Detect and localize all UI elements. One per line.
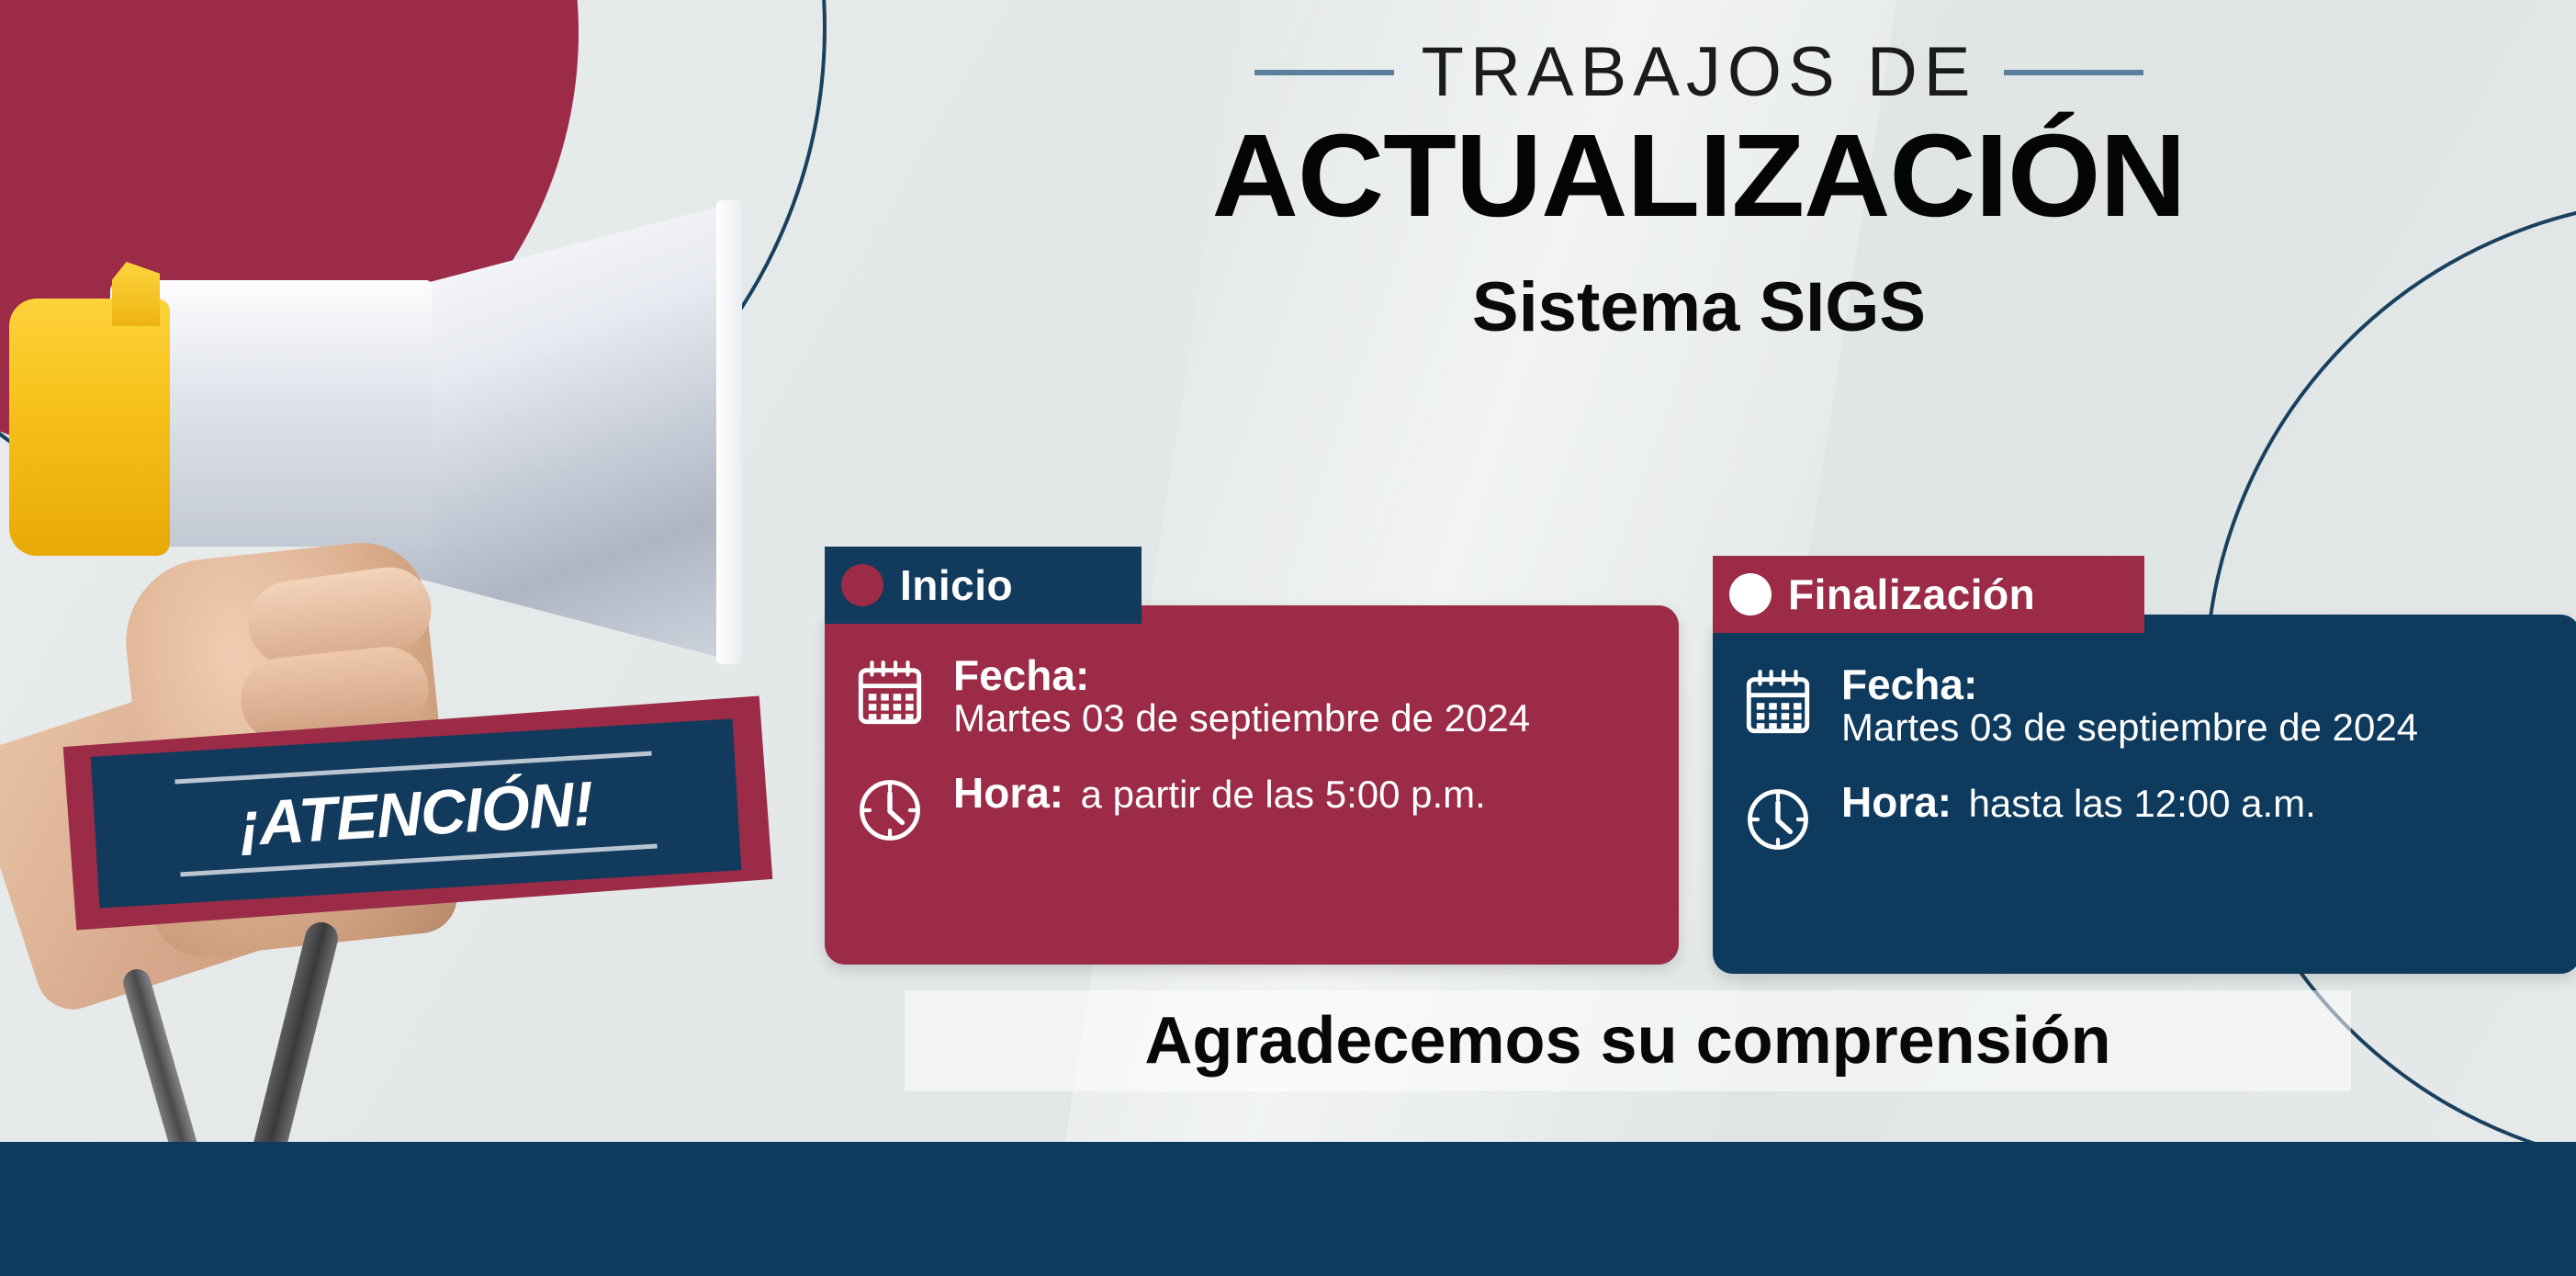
inicio-card: Inicio — [825, 547, 1679, 965]
finalizacion-time-value: hasta las 12:00 a.m. — [1956, 782, 2316, 825]
megaphone-yellow-tab — [112, 262, 160, 326]
finalizacion-time-label: Hora: — [1841, 778, 1952, 826]
finalizacion-card-tab-label: Finalización — [1788, 570, 2035, 619]
eyebrow-rule-right — [2004, 70, 2143, 75]
crimson-dot-icon — [841, 564, 883, 606]
clock-icon — [854, 771, 931, 851]
finalizacion-card-body: Fecha: Martes 03 de septiembre de 2024 H — [1713, 615, 2576, 974]
finalizacion-date-value: Martes 03 de septiembre de 2024 — [1841, 706, 2418, 749]
page-title: ACTUALIZACIÓN — [1212, 108, 2186, 243]
inicio-card-tab-label: Inicio — [900, 560, 1013, 610]
megaphone-yellow-cap — [9, 299, 170, 556]
finalizacion-date-label: Fecha: — [1841, 661, 1977, 708]
attention-badge: ¡ATENCIÓN! — [32, 712, 776, 928]
inicio-date-value: Martes 03 de septiembre de 2024 — [953, 696, 1530, 740]
white-dot-icon — [1729, 573, 1772, 615]
eyebrow-row: TRABAJOS DE — [1254, 32, 2144, 112]
inicio-time-row: Hora: a partir de las 5:00 p.m. — [854, 771, 1642, 851]
headline-block: TRABAJOS DE ACTUALIZACIÓN Sistema SIGS — [1038, 32, 2360, 347]
attention-label: ¡ATENCIÓN! — [237, 767, 594, 860]
inicio-date-label: Fecha: — [953, 651, 1089, 699]
inicio-card-tab: Inicio — [825, 547, 1142, 624]
megaphone-rim — [716, 200, 742, 664]
eyebrow-label: TRABAJOS DE — [1422, 32, 1977, 112]
footer-bar — [0, 1142, 2576, 1276]
inicio-time-label: Hora: — [953, 769, 1063, 817]
subtitle: Sistema SIGS — [1472, 267, 1926, 347]
inicio-time-value: a partir de las 5:00 p.m. — [1068, 773, 1486, 816]
calendar-icon — [1742, 662, 1819, 742]
calendar-icon — [854, 653, 931, 733]
inicio-date-row: Fecha: Martes 03 de septiembre de 2024 — [854, 653, 1642, 740]
finalizacion-date-row: Fecha: Martes 03 de septiembre de 2024 — [1742, 662, 2544, 749]
clock-icon — [1742, 780, 1819, 860]
inicio-card-body: Fecha: Martes 03 de septiembre de 2024 H — [825, 605, 1679, 965]
hand-holding-megaphone-photo — [0, 156, 808, 1148]
closing-message: Agradecemos su comprensión — [905, 990, 2351, 1091]
finalizacion-card: Finalización — [1713, 556, 2576, 974]
announcement-banner: ¡ATENCIÓN! TRABAJOS DE ACTUALIZACIÓN Sis… — [0, 0, 2576, 1276]
finalizacion-card-tab: Finalización — [1713, 556, 2144, 633]
eyebrow-rule-left — [1254, 70, 1394, 75]
finalizacion-time-row: Hora: hasta las 12:00 a.m. — [1742, 780, 2544, 860]
